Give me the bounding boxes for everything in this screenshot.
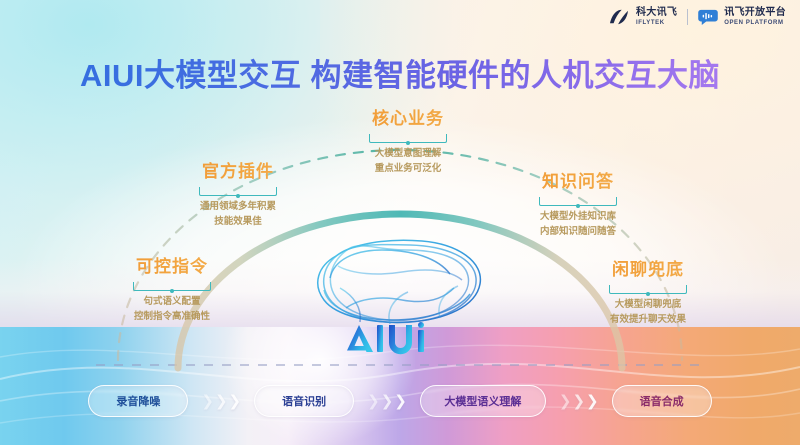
logo-divider <box>687 9 688 25</box>
open-platform-logo-en: OPEN PLATFORM <box>724 20 786 26</box>
feature-plugin-desc: 通用领域多年积累 技能效果佳 <box>148 200 328 229</box>
feature-knowledge-title: 知识问答 <box>478 167 678 192</box>
feature-core: 核心业务 大模型意图理解 重点业务可泛化 <box>308 104 508 176</box>
iflytek-logo-icon <box>608 8 630 26</box>
feature-core-rule <box>369 134 447 143</box>
chevron-right-triple-icon: ❯❯❯ <box>546 394 612 409</box>
chevron-right-triple-icon: ❯❯❯ <box>354 394 420 409</box>
feature-core-title: 核心业务 <box>308 104 508 129</box>
aiui-wordmark <box>345 322 455 356</box>
feature-plugin-rule <box>199 187 277 196</box>
page-title: AIUI大模型交互 构建智能硬件的人机交互大脑 <box>0 50 800 95</box>
feature-chat-rule <box>609 285 687 294</box>
feature-plugin-title: 官方插件 <box>148 157 328 182</box>
slide-canvas: 科大讯飞 IFLYTEK 讯飞开放平台 OPEN PLATFORM AIUI大模… <box>0 0 800 445</box>
feature-command-desc-line-2: 控制指令高准确性 <box>82 310 262 325</box>
feature-core-desc-line-1: 大模型意图理解 <box>308 147 508 162</box>
iflytek-logo-en: IFLYTEK <box>636 20 677 26</box>
feature-chat-desc-line-1: 大模型闲聊兜底 <box>548 298 748 313</box>
header-logos: 科大讯飞 IFLYTEK 讯飞开放平台 OPEN PLATFORM <box>608 8 786 26</box>
feature-knowledge-rule <box>539 197 617 206</box>
pipeline-steps: 录音降噪 ❯❯❯ 语音识别 ❯❯❯ 大模型语义理解 ❯❯❯ 语音合成 <box>0 385 800 417</box>
feature-chat-desc: 大模型闲聊兜底 有效提升聊天效果 <box>548 298 748 327</box>
feature-chat: 闲聊兜底 大模型闲聊兜底 有效提升聊天效果 <box>548 255 748 327</box>
pipeline-step-llm-semantic-understanding[interactable]: 大模型语义理解 <box>420 385 546 417</box>
open-platform-logo: 讯飞开放平台 OPEN PLATFORM <box>698 8 786 26</box>
feature-chat-desc-line-2: 有效提升聊天效果 <box>548 313 748 328</box>
pipeline-divider <box>96 364 704 366</box>
feature-plugin-desc-line-1: 通用领域多年积累 <box>148 200 328 215</box>
feature-knowledge-desc-line-1: 大模型外挂知识库 <box>478 210 678 225</box>
iflytek-logo-cn: 科大讯飞 <box>636 8 677 18</box>
feature-command-rule <box>133 282 211 291</box>
pipeline-step-speech-synthesis[interactable]: 语音合成 <box>612 385 712 417</box>
feature-knowledge-desc-line-2: 内部知识随问随答 <box>478 225 678 240</box>
feature-command-desc: 句式语义配置 控制指令高准确性 <box>82 295 262 324</box>
feature-plugin: 官方插件 通用领域多年积累 技能效果佳 <box>148 157 328 229</box>
open-platform-logo-cn: 讯飞开放平台 <box>724 8 786 18</box>
feature-chat-title: 闲聊兜底 <box>548 255 748 280</box>
pipeline-step-speech-recognition[interactable]: 语音识别 <box>254 385 354 417</box>
aiui-wordmark-icon <box>345 322 455 356</box>
pipeline-step-recording-denoise[interactable]: 录音降噪 <box>88 385 188 417</box>
feature-command: 可控指令 句式语义配置 控制指令高准确性 <box>82 252 262 324</box>
feature-plugin-desc-line-2: 技能效果佳 <box>148 215 328 230</box>
feature-knowledge-desc: 大模型外挂知识库 内部知识随问随答 <box>478 210 678 239</box>
feature-command-title: 可控指令 <box>82 252 262 277</box>
feature-command-desc-line-1: 句式语义配置 <box>82 295 262 310</box>
open-platform-bubble-icon <box>698 9 718 25</box>
iflytek-logo: 科大讯飞 IFLYTEK <box>608 8 677 26</box>
feature-knowledge: 知识问答 大模型外挂知识库 内部知识随问随答 <box>478 167 678 239</box>
chevron-right-triple-icon: ❯❯❯ <box>188 394 254 409</box>
